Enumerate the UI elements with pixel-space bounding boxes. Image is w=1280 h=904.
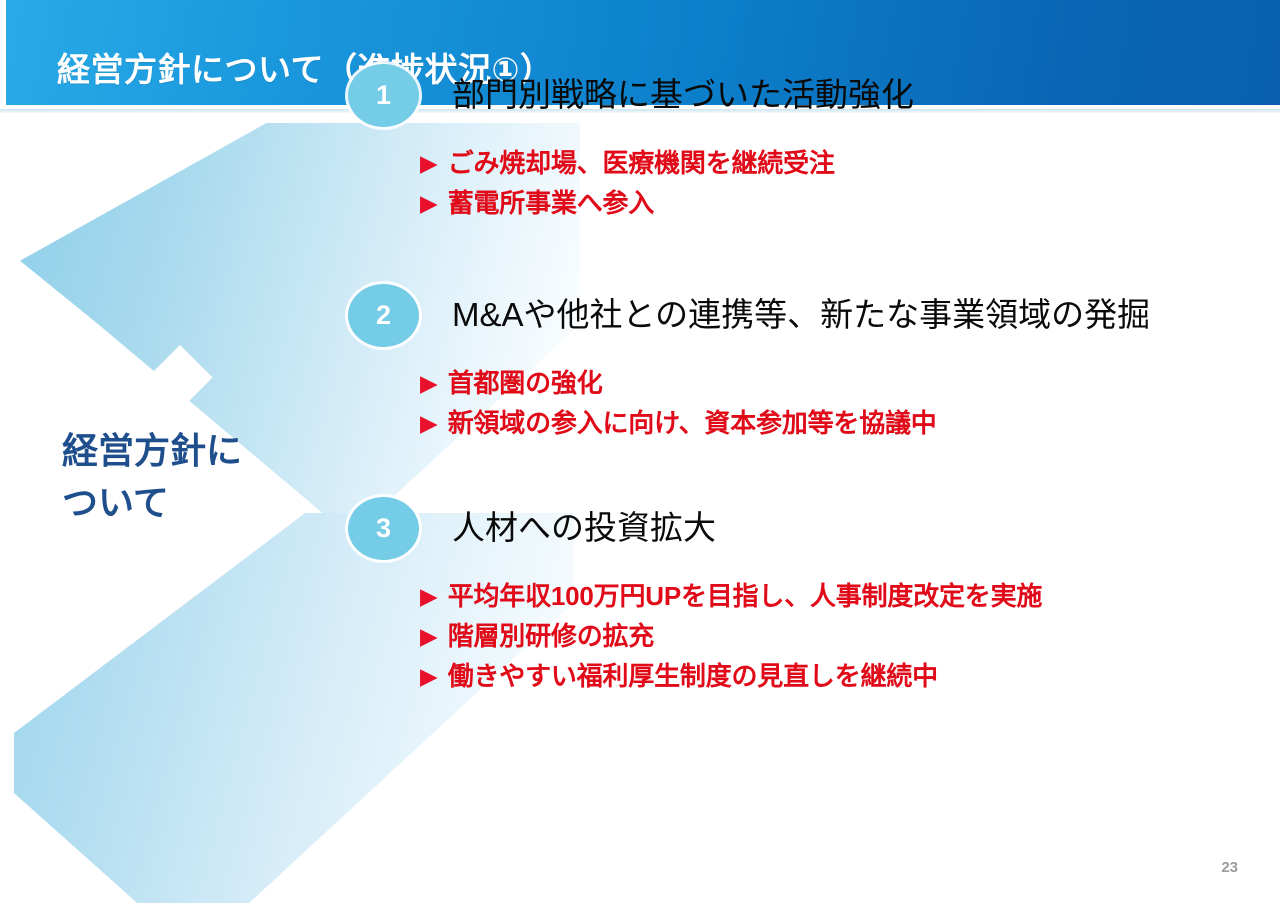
bullet-text: 新領域の参入に向け、資本参加等を協議中 [448,408,937,439]
bullet-text: 働きやすい福利厚生制度の見直しを継続中 [448,661,938,692]
triangle-bullet-icon: ▶ [420,408,438,439]
list-item: ▶ 首都圏の強化 [420,368,937,399]
block-3-bullets: ▶ 平均年収100万円UPを目指し、人事制度改定を実施 ▶ 階層別研修の拡充 ▶… [420,581,1042,701]
triangle-bullet-icon: ▶ [420,188,438,219]
triangle-bullet-icon: ▶ [420,368,438,399]
list-item: ▶ 蓄電所事業へ参入 [420,188,835,219]
section-label-line-2: ついて [62,477,362,529]
bullet-text: 首都圏の強化 [448,368,603,399]
bullet-text: 平均年収100万円UPを目指し、人事制度改定を実施 [448,581,1043,612]
list-item: ▶ 平均年収100万円UPを目指し、人事制度改定を実施 [420,581,1042,612]
block-1-number-badge: 1 [348,64,419,127]
slide-root: 経営方針について（進捗状況①） 経営方針に ついて 1 部門別戦略に基づいた活動… [0,0,1280,904]
page-number: 23 [1221,859,1238,876]
section-label-line-1: 経営方針に [62,425,362,477]
block-3-number-badge: 3 [348,497,419,560]
triangle-bullet-icon: ▶ [420,621,438,652]
bullet-text: 蓄電所事業へ参入 [448,188,654,219]
bullet-text: ごみ焼却場、医療機関を継続受注 [448,148,835,179]
section-label: 経営方針に ついて [62,425,362,529]
block-3-heading: 人材への投資拡大 [452,501,716,549]
list-item: ▶ 新領域の参入に向け、資本参加等を協議中 [420,408,937,439]
block-2-number-badge: 2 [348,284,419,347]
block-2-bullets: ▶ 首都圏の強化 ▶ 新領域の参入に向け、資本参加等を協議中 [420,368,937,448]
list-item: ▶ ごみ焼却場、医療機関を継続受注 [420,148,835,179]
block-1-bullets: ▶ ごみ焼却場、医療機関を継続受注 ▶ 蓄電所事業へ参入 [420,148,835,228]
block-2-heading: M&Aや他社との連携等、新たな事業領域の発掘 [452,288,1150,336]
header-left-edge [0,0,6,105]
triangle-bullet-icon: ▶ [420,661,438,692]
bullet-text: 階層別研修の拡充 [448,621,654,652]
triangle-bullet-icon: ▶ [420,581,438,612]
block-1-heading: 部門別戦略に基づいた活動強化 [452,68,914,116]
triangle-bullet-icon: ▶ [420,148,438,179]
list-item: ▶ 働きやすい福利厚生制度の見直しを継続中 [420,661,1042,692]
chevron-shape-bottom [14,513,574,904]
list-item: ▶ 階層別研修の拡充 [420,621,1042,652]
